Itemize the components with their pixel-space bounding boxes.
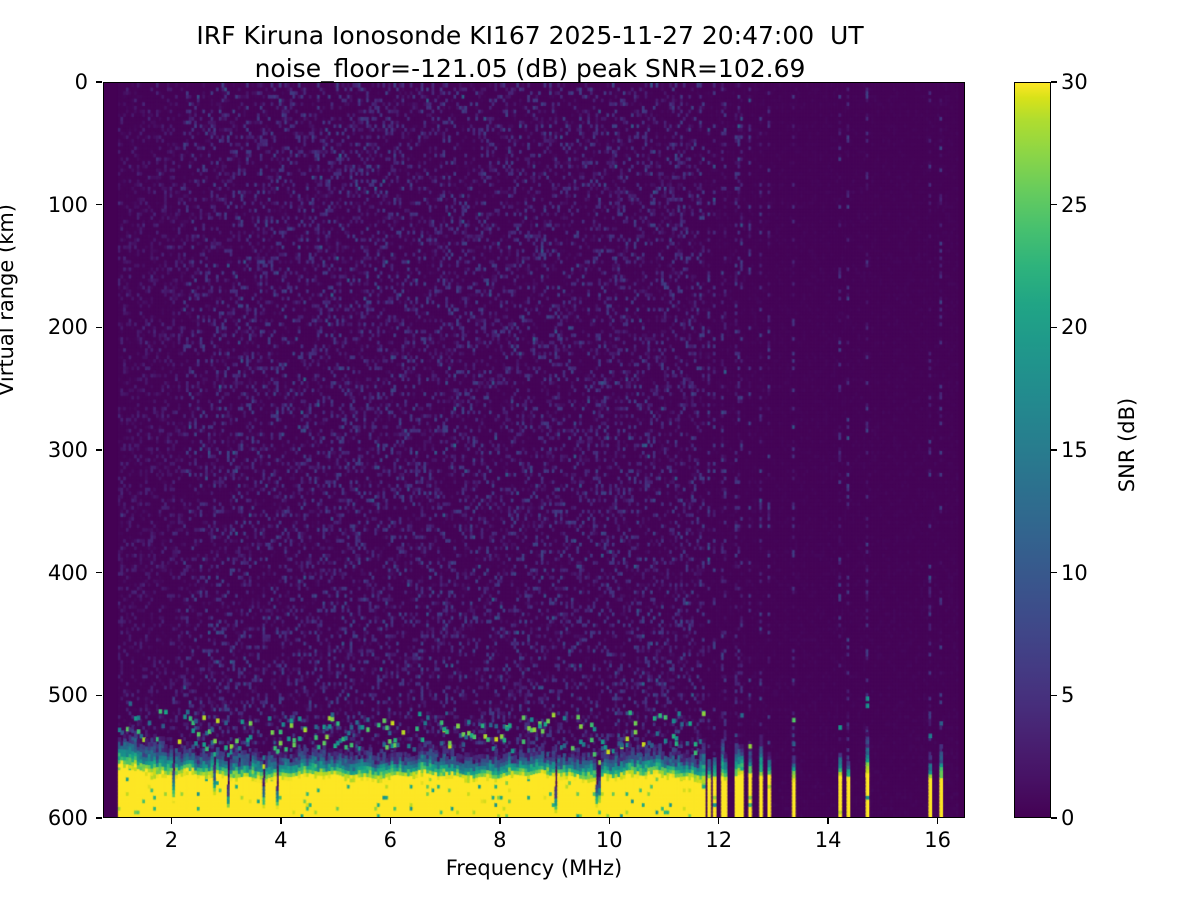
x-tick-mark	[390, 818, 392, 824]
colorbar-tick-label: 15	[1061, 438, 1088, 462]
y-tick-label: 100	[0, 193, 88, 217]
y-tick-mark	[96, 817, 102, 819]
y-tick-label: 200	[0, 315, 88, 339]
y-tick-label: 400	[0, 561, 88, 585]
title-line-2: noise_floor=-121.05 (dB) peak SNR=102.69	[0, 53, 1060, 86]
x-tick-mark	[718, 818, 720, 824]
x-tick-mark	[171, 818, 173, 824]
x-tick-label: 2	[131, 828, 211, 852]
colorbar-tick-label: 30	[1061, 70, 1088, 94]
x-tick-label: 6	[350, 828, 430, 852]
y-tick-mark	[96, 204, 102, 206]
y-tick-mark	[96, 572, 102, 574]
colorbar-tick-mark	[1051, 572, 1057, 574]
colorbar-tick-mark	[1051, 81, 1057, 83]
x-tick-label: 16	[898, 828, 978, 852]
ionogram-figure: IRF Kiruna Ionosonde KI167 2025-11-27 20…	[0, 0, 1200, 900]
x-tick-label: 10	[569, 828, 649, 852]
y-tick-mark	[96, 449, 102, 451]
y-tick-label: 500	[0, 683, 88, 707]
x-tick-mark	[499, 818, 501, 824]
ionogram-heatmap	[104, 83, 964, 817]
y-tick-mark	[96, 327, 102, 329]
y-axis-label: Virtual range (km)	[0, 204, 18, 396]
colorbar-label-wrapper: SNR (dB)	[1115, 280, 1139, 610]
colorbar-tick-label: 0	[1061, 806, 1074, 830]
x-tick-label: 4	[241, 828, 321, 852]
colorbar-tick-mark	[1051, 327, 1057, 329]
title-line-1: IRF Kiruna Ionosonde KI167 2025-11-27 20…	[0, 20, 1060, 53]
x-tick-label: 12	[679, 828, 759, 852]
x-tick-label: 14	[788, 828, 868, 852]
colorbar-tick-mark	[1051, 449, 1057, 451]
y-tick-label: 600	[0, 806, 88, 830]
colorbar-tick-label: 5	[1061, 683, 1074, 707]
y-tick-mark	[96, 695, 102, 697]
x-tick-mark	[827, 818, 829, 824]
colorbar-tick-mark	[1051, 204, 1057, 206]
colorbar-label: SNR (dB)	[1115, 398, 1139, 492]
x-tick-mark	[280, 818, 282, 824]
x-tick-mark	[937, 818, 939, 824]
colorbar-tick-mark	[1051, 817, 1057, 819]
y-tick-mark	[96, 81, 102, 83]
y-tick-label: 300	[0, 438, 88, 462]
x-tick-mark	[609, 818, 611, 824]
colorbar[interactable]	[1014, 82, 1051, 818]
heatmap-plot-area[interactable]	[103, 82, 965, 818]
x-tick-label: 8	[460, 828, 540, 852]
chart-title: IRF Kiruna Ionosonde KI167 2025-11-27 20…	[0, 20, 1060, 85]
colorbar-tick-label: 20	[1061, 315, 1088, 339]
colorbar-tick-label: 10	[1061, 561, 1088, 585]
y-tick-label: 0	[0, 70, 88, 94]
colorbar-tick-mark	[1051, 695, 1057, 697]
colorbar-tick-label: 25	[1061, 193, 1088, 217]
x-axis-label: Frequency (MHz)	[103, 856, 965, 880]
